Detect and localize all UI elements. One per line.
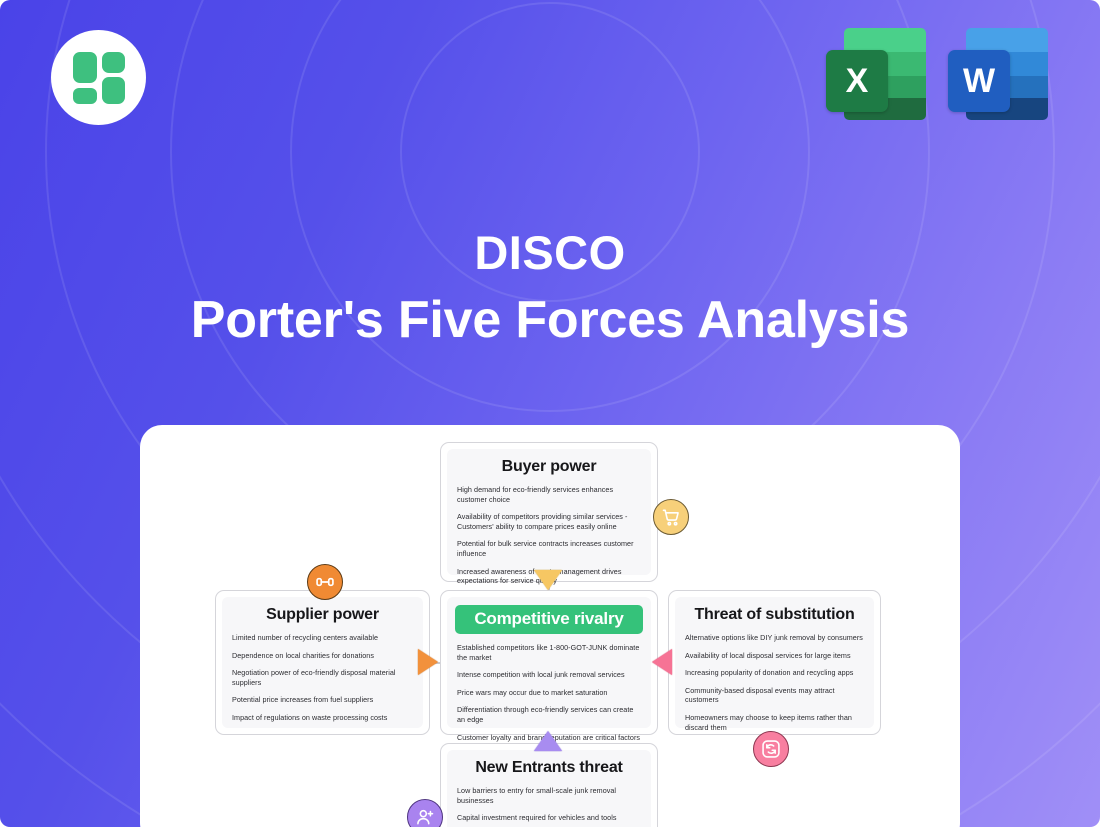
brand-name: DISCO	[0, 222, 1100, 284]
force-point: Homeowners may choose to keep items rath…	[685, 713, 864, 732]
page-title: DISCO Porter's Five Forces Analysis	[0, 222, 1100, 356]
force-points-supplier-power: Limited number of recycling centers avai…	[232, 633, 413, 723]
force-point: Availability of competitors providing si…	[457, 512, 641, 531]
link-chain-icon	[307, 564, 343, 600]
force-title-buyer-power: Buyer power	[457, 458, 641, 476]
force-box-competitive-rivalry[interactable]: Competitive rivalry Established competit…	[440, 590, 658, 735]
force-point: Impact of regulations on waste processin…	[232, 713, 413, 723]
force-point: Limited number of recycling centers avai…	[232, 633, 413, 643]
force-title-competitive-rivalry: Competitive rivalry	[455, 605, 643, 634]
force-point: Potential for bulk service contracts inc…	[457, 539, 641, 558]
force-point: Differentiation through eco-friendly ser…	[457, 705, 641, 724]
force-box-buyer-power[interactable]: Buyer power High demand for eco-friendly…	[440, 442, 658, 582]
arrow-up-icon	[534, 731, 562, 751]
force-point: High demand for eco-friendly services en…	[457, 485, 641, 504]
force-title-new-entrants-threat: New Entrants threat	[457, 759, 641, 777]
force-point: Low barriers to entry for small-scale ju…	[457, 786, 641, 805]
force-box-new-entrants-threat[interactable]: New Entrants threat Low barriers to entr…	[440, 743, 658, 827]
force-point: Alternative options like DIY junk remova…	[685, 633, 864, 643]
force-point: Established competitors like 1-800-GOT-J…	[457, 643, 641, 662]
refresh-swap-icon	[753, 731, 789, 767]
force-point: Community-based disposal events may attr…	[685, 686, 864, 705]
shopping-cart-icon	[653, 499, 689, 535]
force-point: Increasing popularity of donation and re…	[685, 668, 864, 678]
force-point: Capital investment required for vehicles…	[457, 813, 641, 823]
force-point: Negotiation power of eco-friendly dispos…	[232, 668, 413, 687]
slide-canvas: X W DISCO Porter's Five Forces Analysis …	[0, 0, 1100, 827]
five-forces-diagram: Buyer power High demand for eco-friendly…	[140, 425, 960, 827]
force-point: Price wars may occur due to market satur…	[457, 688, 641, 698]
arrow-right-icon	[418, 649, 438, 675]
arrow-left-icon	[652, 649, 672, 675]
force-point: Intense competition with local junk remo…	[457, 670, 641, 680]
force-box-supplier-power[interactable]: Supplier power Limited number of recycli…	[215, 590, 430, 735]
diagram-card: Buyer power High demand for eco-friendly…	[140, 425, 960, 827]
word-icon[interactable]: W	[948, 28, 1048, 120]
add-user-icon	[407, 799, 443, 827]
word-letter: W	[948, 50, 1010, 112]
excel-icon[interactable]: X	[826, 28, 926, 120]
force-box-threat-of-substitution[interactable]: Threat of substitution Alternative optio…	[668, 590, 881, 735]
brand-logo[interactable]	[51, 30, 146, 125]
arrow-down-icon	[534, 570, 562, 590]
force-points-competitive-rivalry: Established competitors like 1-800-GOT-J…	[457, 643, 641, 742]
force-point: Potential price increases from fuel supp…	[232, 695, 413, 705]
export-format-icons: X W	[826, 28, 1048, 120]
force-title-threat-of-substitution: Threat of substitution	[685, 606, 864, 624]
force-points-threat-of-substitution: Alternative options like DIY junk remova…	[685, 633, 864, 732]
grid-logo-icon	[73, 52, 125, 104]
force-point: Availability of local disposal services …	[685, 651, 864, 661]
force-points-new-entrants-threat: Low barriers to entry for small-scale ju…	[457, 786, 641, 827]
excel-letter: X	[826, 50, 888, 112]
analysis-title: Porter's Five Forces Analysis	[0, 284, 1100, 356]
force-title-supplier-power: Supplier power	[232, 606, 413, 624]
force-point: Dependence on local charities for donati…	[232, 651, 413, 661]
